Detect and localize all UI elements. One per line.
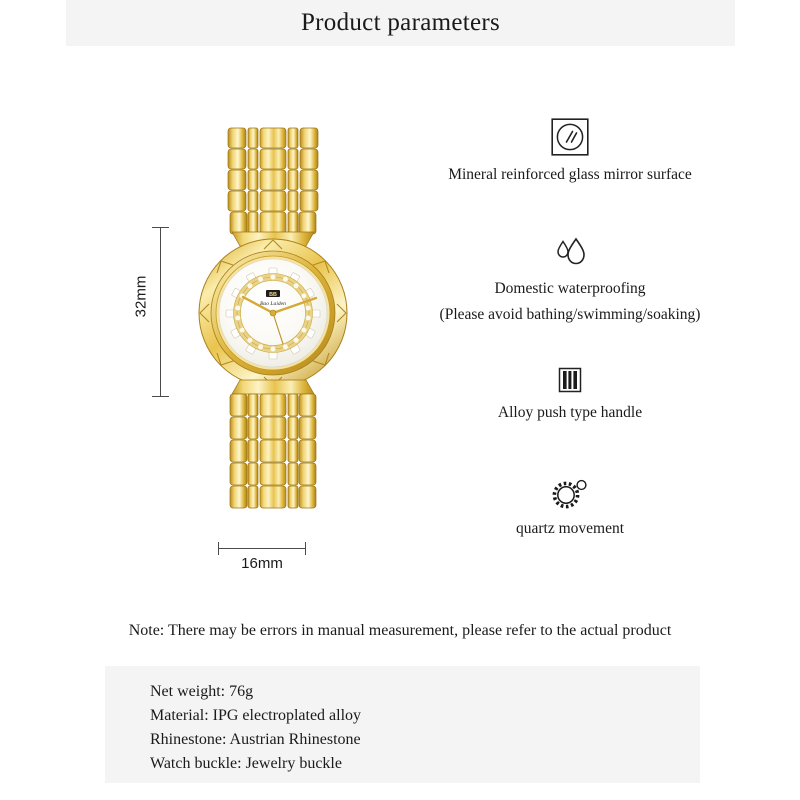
product-parameters-page: Product parameters 32mm: [0, 0, 800, 800]
feature-label: Domestic waterproofing: [400, 280, 740, 298]
spec-line-net-weight: Net weight: 76g: [150, 680, 700, 704]
svg-text:Bao Laiden: Bao Laiden: [260, 301, 286, 307]
gold-wristwatch-photo: BB Bao Laiden: [188, 120, 358, 530]
feature-item-quartz-movement: quartz movement: [400, 476, 740, 538]
dimension-width-label: 16mm: [217, 555, 307, 572]
dimension-width-cap-right: [305, 542, 306, 555]
spec-line-watch-buckle: Watch buckle: Jewelry buckle: [150, 752, 700, 776]
spec-line-material: Material: IPG electroplated alloy: [150, 704, 700, 728]
watch-bracelet-upper: [228, 128, 318, 246]
gear-movement-icon: [400, 476, 740, 510]
dimension-height-label: 32mm: [133, 267, 150, 327]
measurement-note: Note: There may be errors in manual meas…: [0, 622, 800, 640]
mirror-glass-icon: [400, 118, 740, 156]
dimension-height-cap-bottom: [152, 396, 169, 397]
watch-bracelet-lower: [230, 380, 316, 508]
header-band: Product parameters: [66, 0, 735, 46]
feature-label: quartz movement: [400, 520, 740, 538]
spec-line-rhinestone: Rhinestone: Austrian Rhinestone: [150, 728, 700, 752]
feature-label: Mineral reinforced glass mirror surface: [400, 166, 740, 184]
feature-item-waterproofing: Domestic waterproofing (Please avoid bat…: [400, 236, 740, 324]
feature-item-push-handle: Alloy push type handle: [400, 366, 740, 422]
dimension-width-rule: [218, 548, 306, 549]
push-handle-bars-icon: [400, 366, 740, 394]
feature-label: Alloy push type handle: [400, 404, 740, 422]
feature-list: Mineral reinforced glass mirror surface …: [400, 118, 740, 558]
dimension-height-rule: [160, 227, 161, 397]
specifications-box: Net weight: 76g Material: IPG electropla…: [105, 666, 700, 783]
product-figure: 32mm: [90, 120, 390, 580]
watch-case: BB Bao Laiden: [199, 239, 347, 387]
dimension-width-line: 16mm: [217, 542, 307, 582]
feature-item-mineral-glass: Mineral reinforced glass mirror surface: [400, 118, 740, 184]
page-title: Product parameters: [66, 0, 735, 46]
dimension-height-line: 32mm: [134, 224, 168, 400]
svg-text:BB: BB: [269, 292, 277, 298]
feature-sublabel: (Please avoid bathing/swimming/soaking): [400, 306, 740, 324]
water-droplets-icon: [400, 236, 740, 270]
